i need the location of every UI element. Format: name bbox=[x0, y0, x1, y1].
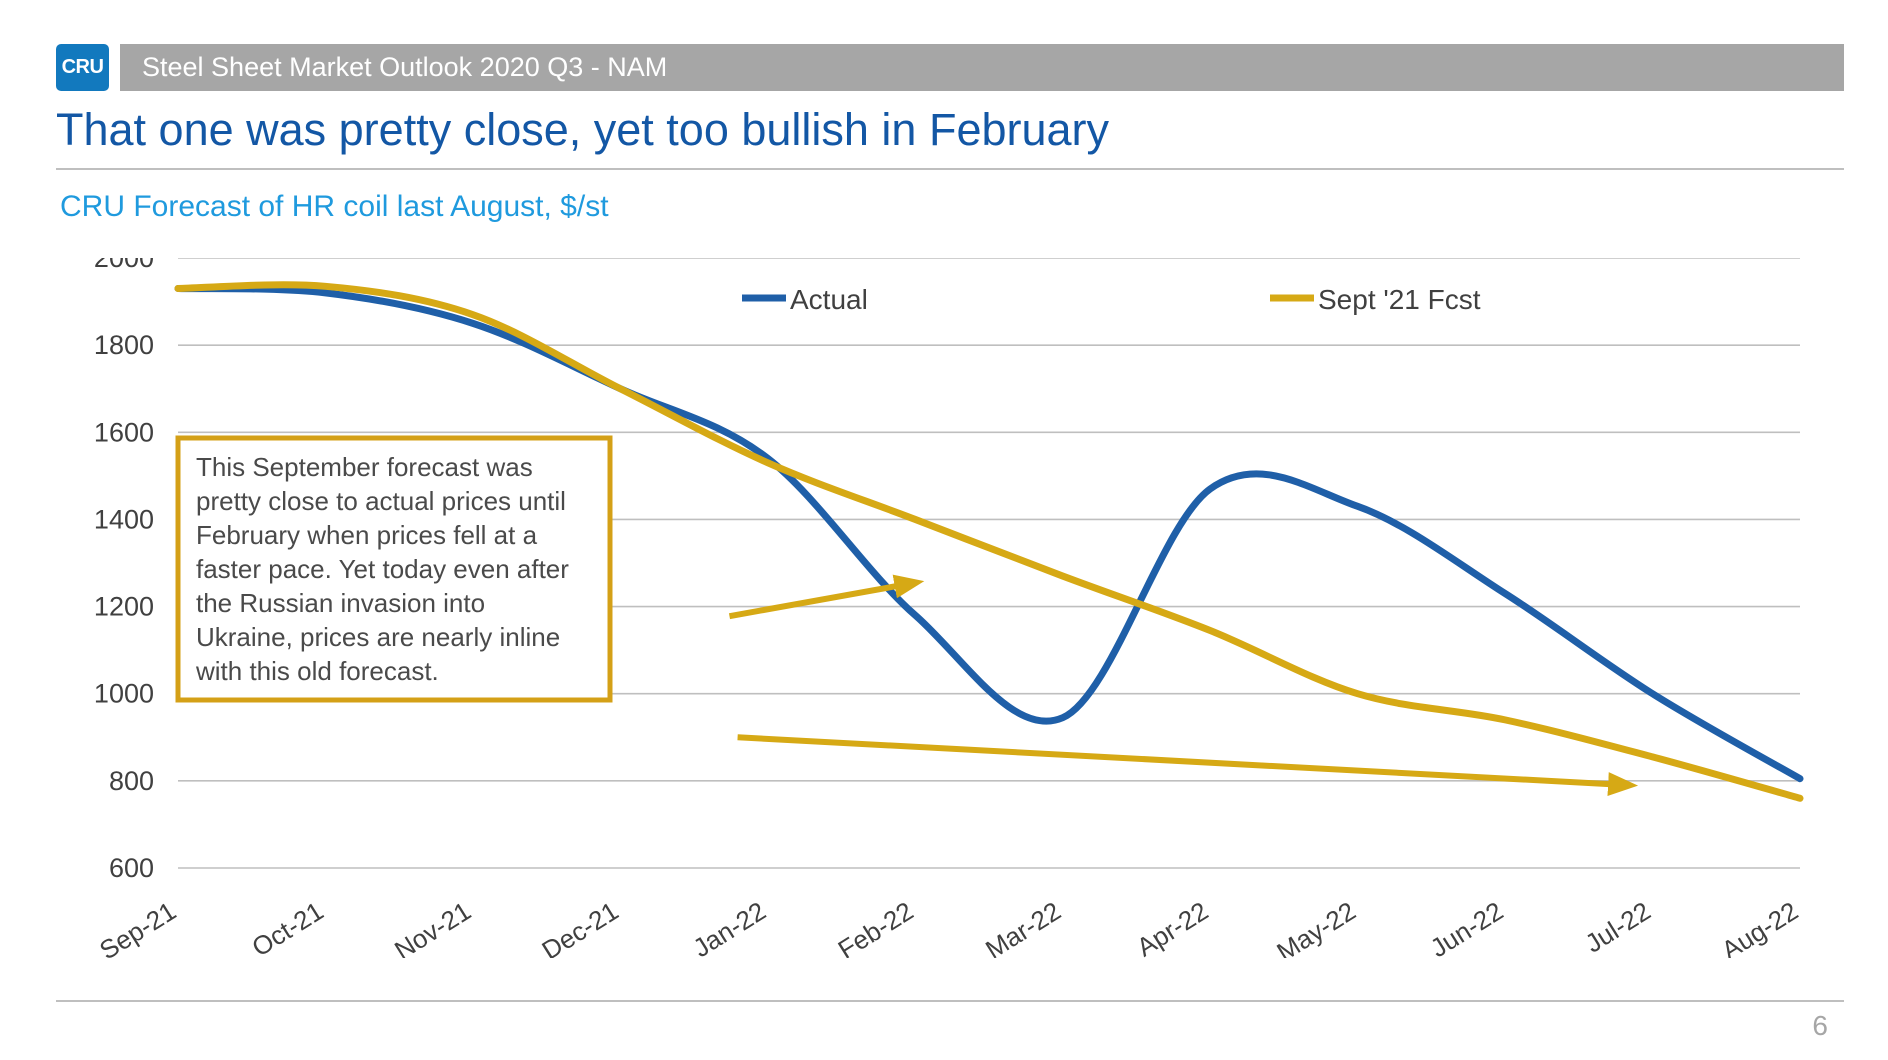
callout-line: faster pace. Yet today even after bbox=[196, 554, 569, 584]
x-tick-label: Jul-22 bbox=[1580, 896, 1656, 958]
header-banner-title: Steel Sheet Market Outlook 2020 Q3 - NAM bbox=[142, 52, 667, 83]
line-chart: 600800100012001400160018002000 Sep-21Oct… bbox=[0, 258, 1888, 958]
callout-line: Ukraine, prices are nearly inline bbox=[196, 622, 560, 652]
x-axis-tick-labels: Sep-21Oct-21Nov-21Dec-21Jan-22Feb-22Mar-… bbox=[94, 896, 1803, 958]
x-tick-label: Jun-22 bbox=[1425, 896, 1508, 958]
y-tick-label: 2000 bbox=[94, 258, 154, 273]
callout-line: February when prices fell at a bbox=[196, 520, 538, 550]
callout-line: This September forecast was bbox=[196, 452, 533, 482]
x-tick-label: Dec-21 bbox=[537, 896, 624, 958]
x-tick-label: Nov-21 bbox=[389, 896, 476, 958]
legend-label-2[interactable]: Sept '21 Fcst bbox=[1318, 284, 1481, 315]
title-divider bbox=[56, 168, 1844, 170]
y-tick-label: 1000 bbox=[94, 679, 154, 709]
y-tick-label: 800 bbox=[109, 766, 154, 796]
page-title: That one was pretty close, yet too bulli… bbox=[56, 104, 1109, 156]
y-tick-label: 600 bbox=[109, 853, 154, 883]
y-tick-label: 1600 bbox=[94, 417, 154, 447]
slide: CRU Steel Sheet Market Outlook 2020 Q3 -… bbox=[0, 0, 1888, 1060]
y-tick-label: 1800 bbox=[94, 330, 154, 360]
y-tick-label: 1200 bbox=[94, 592, 154, 622]
x-tick-label: Jan-22 bbox=[688, 896, 771, 958]
x-tick-label: Oct-21 bbox=[247, 896, 329, 958]
chart-container: 600800100012001400160018002000 Sep-21Oct… bbox=[0, 258, 1888, 958]
callout-line: the Russian invasion into bbox=[196, 588, 485, 618]
chart-legend: ActualSept '21 Fcst bbox=[742, 284, 1481, 315]
x-tick-label: May-22 bbox=[1271, 896, 1360, 958]
x-tick-label: Mar-22 bbox=[980, 896, 1066, 958]
x-tick-label: Sep-21 bbox=[94, 896, 181, 958]
y-axis-tick-labels: 600800100012001400160018002000 bbox=[94, 258, 154, 883]
chart-subtitle: CRU Forecast of HR coil last August, $/s… bbox=[60, 190, 609, 224]
page-number: 6 bbox=[1812, 1010, 1828, 1042]
chart-annotations bbox=[729, 583, 1629, 786]
x-tick-label: Apr-22 bbox=[1131, 896, 1213, 958]
legend-label-1[interactable]: Actual bbox=[790, 284, 868, 315]
slide-header: CRU Steel Sheet Market Outlook 2020 Q3 -… bbox=[56, 44, 1844, 91]
x-tick-label: Aug-22 bbox=[1716, 896, 1803, 958]
y-tick-label: 1400 bbox=[94, 504, 154, 534]
footer-divider bbox=[56, 1000, 1844, 1002]
arrow-to-forecast-line bbox=[729, 583, 916, 617]
callout-line: with this old forecast. bbox=[195, 656, 439, 686]
callout-line: pretty close to actual prices until bbox=[196, 486, 566, 516]
x-tick-label: Feb-22 bbox=[833, 896, 919, 958]
header-banner: Steel Sheet Market Outlook 2020 Q3 - NAM bbox=[120, 44, 1844, 91]
cru-logo-text: CRU bbox=[62, 56, 104, 79]
callout-box: This September forecast waspretty close … bbox=[178, 438, 610, 700]
cru-logo: CRU bbox=[56, 44, 109, 91]
arrow-to-actual-line bbox=[738, 737, 1630, 785]
